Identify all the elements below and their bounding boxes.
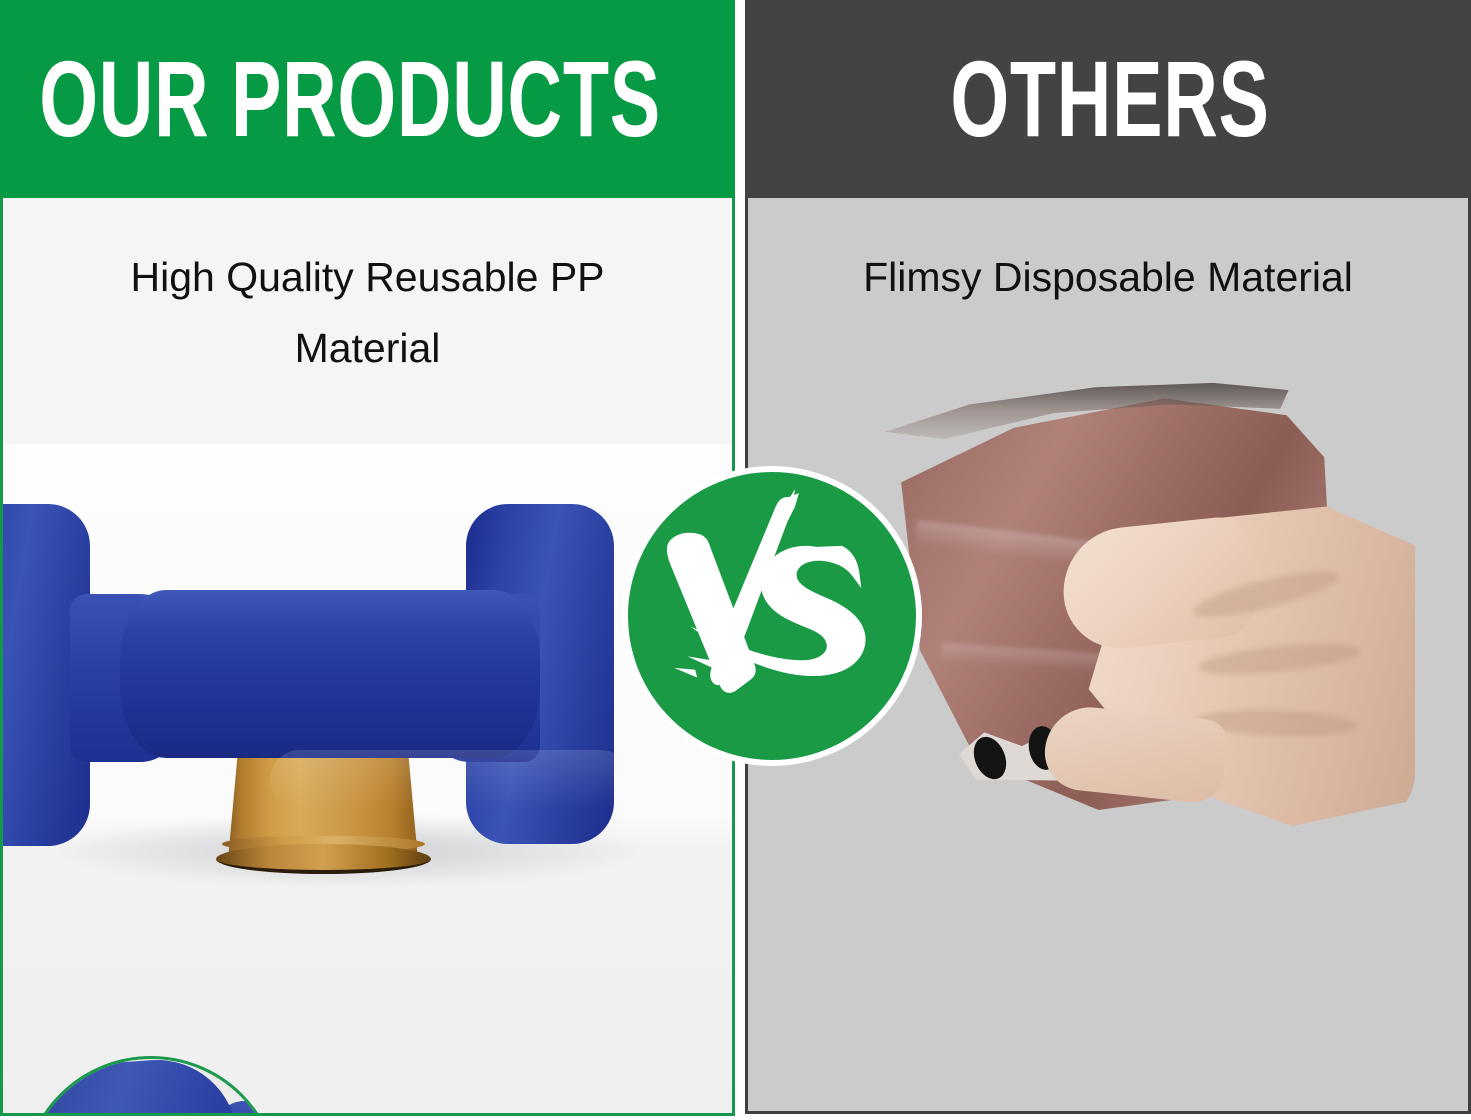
our-products-title: OUR PRODUCTS: [40, 49, 662, 148]
comparison-infographic: OUR PRODUCTS High Quality Reusable PP Ma…: [0, 0, 1471, 1120]
others-subtitle: Flimsy Disposable Material: [748, 242, 1468, 313]
dumbbell-bar: [120, 590, 540, 758]
vs-brush-icon: [628, 472, 916, 760]
our-products-header: OUR PRODUCTS: [0, 0, 735, 198]
dumbbell-on-cup-photo: 3KG: [0, 444, 735, 1116]
inset-dumbbell-head: 3KG: [22, 1056, 250, 1116]
others-header: OTHERS: [745, 0, 1471, 198]
vs-badge: [622, 466, 922, 766]
our-products-subtitle: High Quality Reusable PP Material: [3, 242, 732, 383]
others-title: OTHERS: [950, 49, 1269, 148]
our-products-body: High Quality Reusable PP Material: [0, 198, 735, 1116]
cup-base: [216, 844, 431, 874]
our-products-panel: OUR PRODUCTS High Quality Reusable PP Ma…: [0, 0, 735, 1116]
weight-closeup-inset: 3KG: [22, 1056, 280, 1116]
dumbbell-highlight: [270, 750, 630, 810]
